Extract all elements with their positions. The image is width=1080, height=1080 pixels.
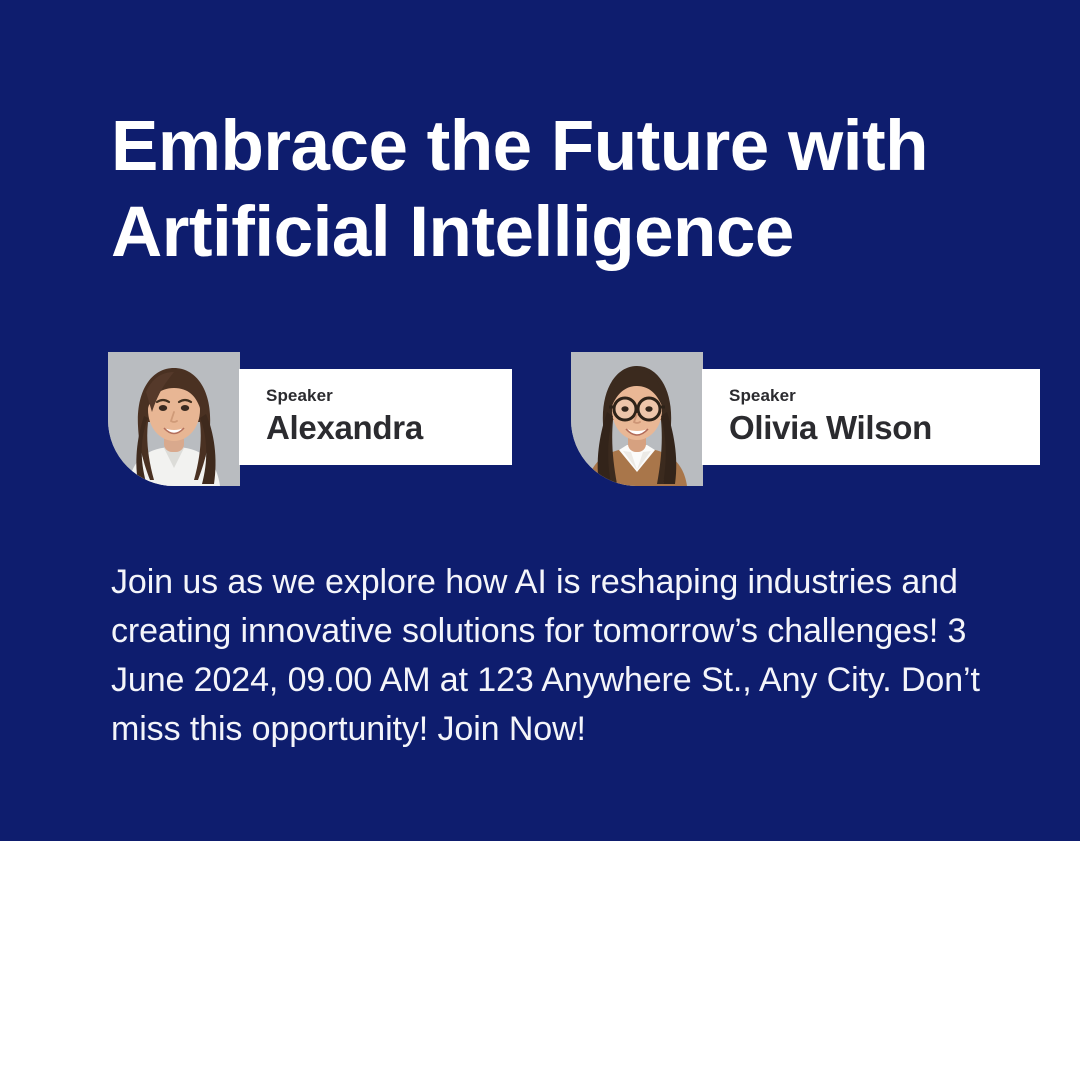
- speaker-role-label: Speaker: [266, 386, 512, 406]
- speaker-role-label: Speaker: [729, 386, 1040, 406]
- speaker-card-olivia-wilson: Speaker Olivia Wilson: [571, 352, 975, 488]
- speaker-name-plate: Speaker Alexandra: [239, 369, 512, 465]
- footer-section: Capcut Free Registration! Follow our soc…: [0, 841, 1080, 1080]
- hero-section: Embrace the Future with Artificial Intel…: [0, 0, 1080, 841]
- event-description: Join us as we explore how AI is reshapin…: [111, 558, 991, 754]
- event-poster: Embrace the Future with Artificial Intel…: [0, 0, 1080, 1080]
- avatar: [108, 352, 240, 486]
- speaker-name: Alexandra: [266, 407, 512, 449]
- speaker-list: Speaker Alexandra: [108, 352, 980, 488]
- speaker-name: Olivia Wilson: [729, 407, 1040, 449]
- avatar: [571, 352, 703, 486]
- speaker-card-alexandra: Speaker Alexandra: [108, 352, 512, 488]
- page-title: Embrace the Future with Artificial Intel…: [111, 104, 1011, 276]
- speaker-name-plate: Speaker Olivia Wilson: [702, 369, 1040, 465]
